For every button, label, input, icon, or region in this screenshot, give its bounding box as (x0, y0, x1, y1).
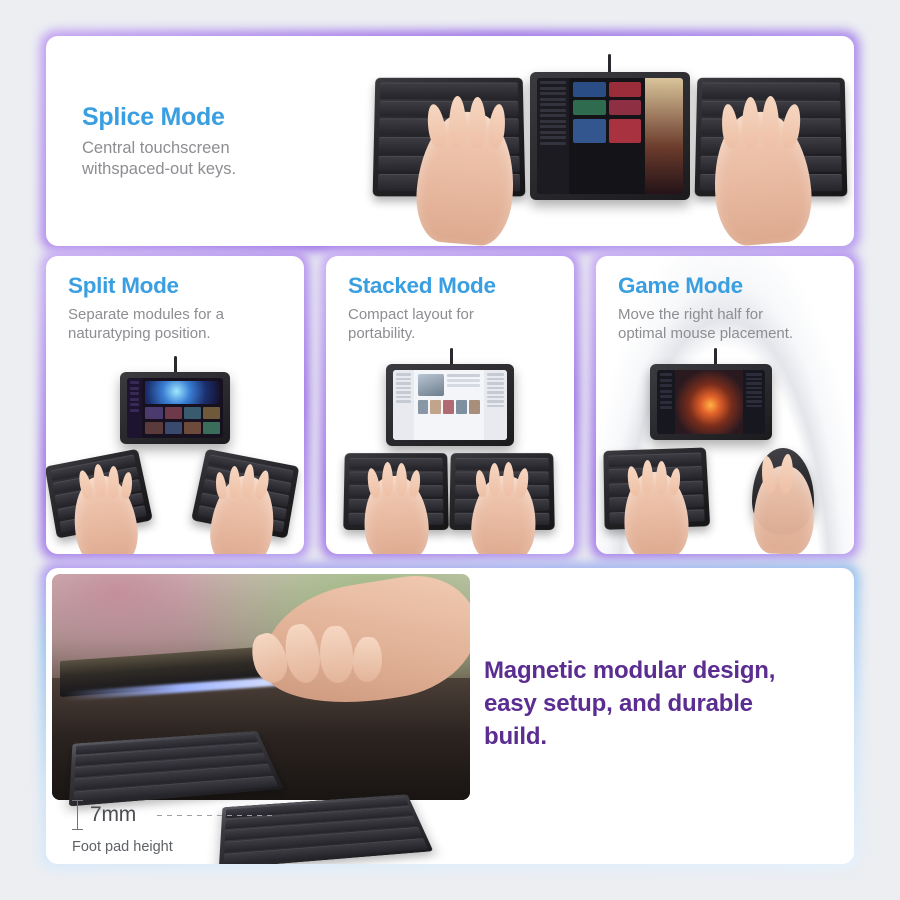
left-hand-finger (382, 462, 393, 496)
split-mode-description-line1: Separate modules for a (68, 305, 294, 324)
stacked-mode-description-line2: portability. (348, 324, 564, 343)
right-hand-finger (229, 466, 240, 498)
split-mode-title: Split Mode (68, 274, 294, 299)
split-mode-description: Separate modules for a naturatyping posi… (68, 305, 294, 343)
measurement-caption: Foot pad height (72, 839, 275, 855)
screen-sidebar (657, 370, 675, 434)
game-mode-description-line2: optimal mouse placement. (618, 324, 844, 343)
splice-mode-card: Splice Mode Central touchscreen withspac… (46, 36, 854, 246)
bottom-headline: Magnetic modular design, easy setup, and… (484, 654, 814, 753)
splice-mode-description-line1: Central touchscreen (82, 138, 342, 159)
tablet-screen (127, 378, 223, 438)
left-hand-finger (642, 460, 653, 494)
tablet-screen (657, 370, 765, 434)
splice-mode-description-line2: withspaced-out keys. (82, 159, 342, 180)
split-mode-text: Split Mode Separate modules for a natura… (68, 274, 294, 343)
screen-right-panel (743, 370, 765, 434)
left-hand-finger (396, 463, 407, 496)
stacked-mode-text: Stacked Mode Compact layout for portabil… (348, 274, 564, 343)
screen-right-panel (484, 370, 507, 440)
measurement-bar-icon (72, 800, 83, 830)
bottom-feature-card: Magnetic modular design, easy setup, and… (46, 568, 854, 864)
split-mode-product-image (46, 352, 304, 554)
stacked-mode-description-line1: Compact layout for (348, 305, 564, 324)
game-mode-text: Game Mode Move the right half for optima… (618, 274, 844, 343)
stacked-mode-title: Stacked Mode (348, 274, 564, 299)
splice-mode-description: Central touchscreen withspaced-out keys. (82, 138, 342, 180)
game-mode-tablet (650, 364, 772, 440)
infographic-page: Splice Mode Central touchscreen withspac… (0, 0, 900, 900)
screen-game-artwork (675, 370, 743, 434)
foot-pad-measurement: 7mm Foot pad height (72, 800, 275, 855)
right-hand-finger (489, 463, 500, 496)
screen-main-content (569, 78, 645, 194)
split-mode-tablet (120, 372, 230, 444)
bottom-headline-line2: easy setup, and durable (484, 687, 814, 720)
measurement-leader-line (157, 815, 275, 816)
screen-right-panel (645, 78, 683, 194)
left-hand-finger (108, 466, 119, 498)
stacked-mode-tablet (386, 364, 514, 446)
splice-mode-title: Splice Mode (82, 104, 342, 132)
game-mode-product-image (596, 348, 854, 554)
game-mode-title: Game Mode (618, 274, 844, 299)
game-mode-description: Move the right half for optimal mouse pl… (618, 305, 844, 343)
split-mode-description-line2: naturatyping position. (68, 324, 294, 343)
splice-mode-text: Splice Mode Central touchscreen withspac… (82, 104, 342, 180)
left-hand-finger (656, 461, 667, 494)
stacked-mode-product-image (326, 348, 574, 554)
split-mode-card: Split Mode Separate modules for a natura… (46, 256, 304, 554)
central-touchscreen-tablet (530, 72, 690, 200)
tablet-screen (393, 370, 507, 440)
bottom-headline-line1: Magnetic modular design, (484, 654, 814, 687)
screen-sidebar (127, 378, 142, 438)
screen-main-content (414, 370, 485, 440)
tablet-screen (537, 78, 683, 194)
right-hand-finger (503, 462, 514, 496)
bottom-headline-line3: build. (484, 720, 814, 753)
game-mode-card: Game Mode Move the right half for optima… (596, 256, 854, 554)
splice-mode-product-image (366, 42, 854, 246)
screen-main-content (142, 378, 223, 438)
measurement-value: 7mm (90, 803, 136, 827)
stacked-mode-description: Compact layout for portability. (348, 305, 564, 343)
screen-sidebar (393, 370, 414, 440)
game-mode-description-line1: Move the right half for (618, 305, 844, 324)
stacked-mode-card: Stacked Mode Compact layout for portabil… (326, 256, 574, 554)
screen-sidebar (537, 78, 569, 194)
